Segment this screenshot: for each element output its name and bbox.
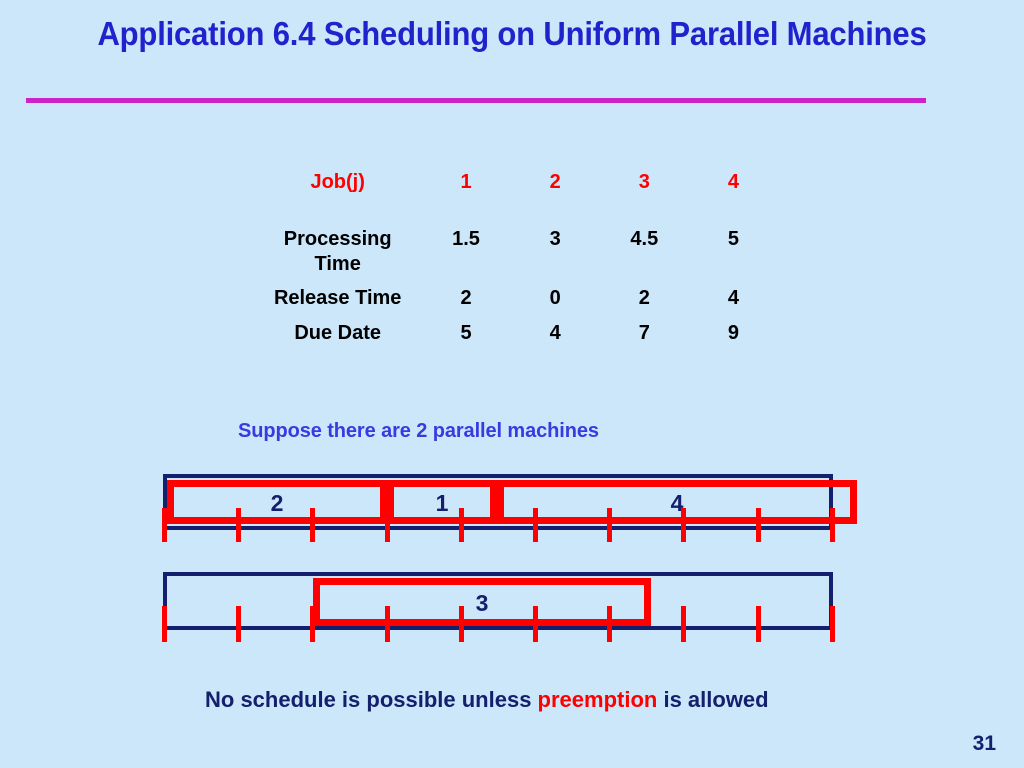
machine-1-job-block-2: 2 bbox=[167, 480, 387, 524]
axis-tick-2-1 bbox=[236, 606, 241, 642]
axis-tick-1-1 bbox=[236, 508, 241, 542]
machine-1-job-label-1: 1 bbox=[436, 492, 449, 515]
axis-tick-2-7 bbox=[681, 606, 686, 642]
axis-tick-1-0 bbox=[162, 508, 167, 542]
axis-tick-2-4 bbox=[459, 606, 464, 642]
machine-1-job-block-4: 4 bbox=[497, 480, 857, 524]
axis-tick-1-2 bbox=[310, 508, 315, 542]
machine-2-job-block-3: 3 bbox=[313, 578, 651, 626]
page-number: 31 bbox=[973, 732, 996, 756]
axis-tick-2-3 bbox=[385, 606, 390, 642]
axis-tick-1-3 bbox=[385, 508, 390, 542]
note-preemption: No schedule is possible unless preemptio… bbox=[205, 684, 865, 715]
axis-tick-1-8 bbox=[756, 508, 761, 542]
axis-tick-2-0 bbox=[162, 606, 167, 642]
machine-1-job-label-2: 2 bbox=[271, 492, 284, 515]
axis-tick-1-5 bbox=[533, 508, 538, 542]
axis-tick-2-9 bbox=[830, 606, 835, 642]
gantt-chart: 2 1 4 3 bbox=[0, 0, 1024, 768]
axis-tick-2-6 bbox=[607, 606, 612, 642]
axis-tick-2-8 bbox=[756, 606, 761, 642]
axis-tick-1-4 bbox=[459, 508, 464, 542]
machine-1-job-block-1: 1 bbox=[387, 480, 497, 524]
axis-tick-1-7 bbox=[681, 508, 686, 542]
axis-tick-2-2 bbox=[310, 606, 315, 642]
note-preemption-prefix: No schedule is possible unless bbox=[205, 687, 538, 712]
machine-2-job-label-3: 3 bbox=[476, 592, 489, 615]
slide-canvas: Application 6.4 Scheduling on Uniform Pa… bbox=[0, 0, 1024, 768]
axis-tick-1-6 bbox=[607, 508, 612, 542]
note-preemption-suffix: is allowed bbox=[657, 687, 768, 712]
axis-tick-2-5 bbox=[533, 606, 538, 642]
note-preemption-highlight: preemption bbox=[538, 687, 658, 712]
axis-tick-1-9 bbox=[830, 508, 835, 542]
